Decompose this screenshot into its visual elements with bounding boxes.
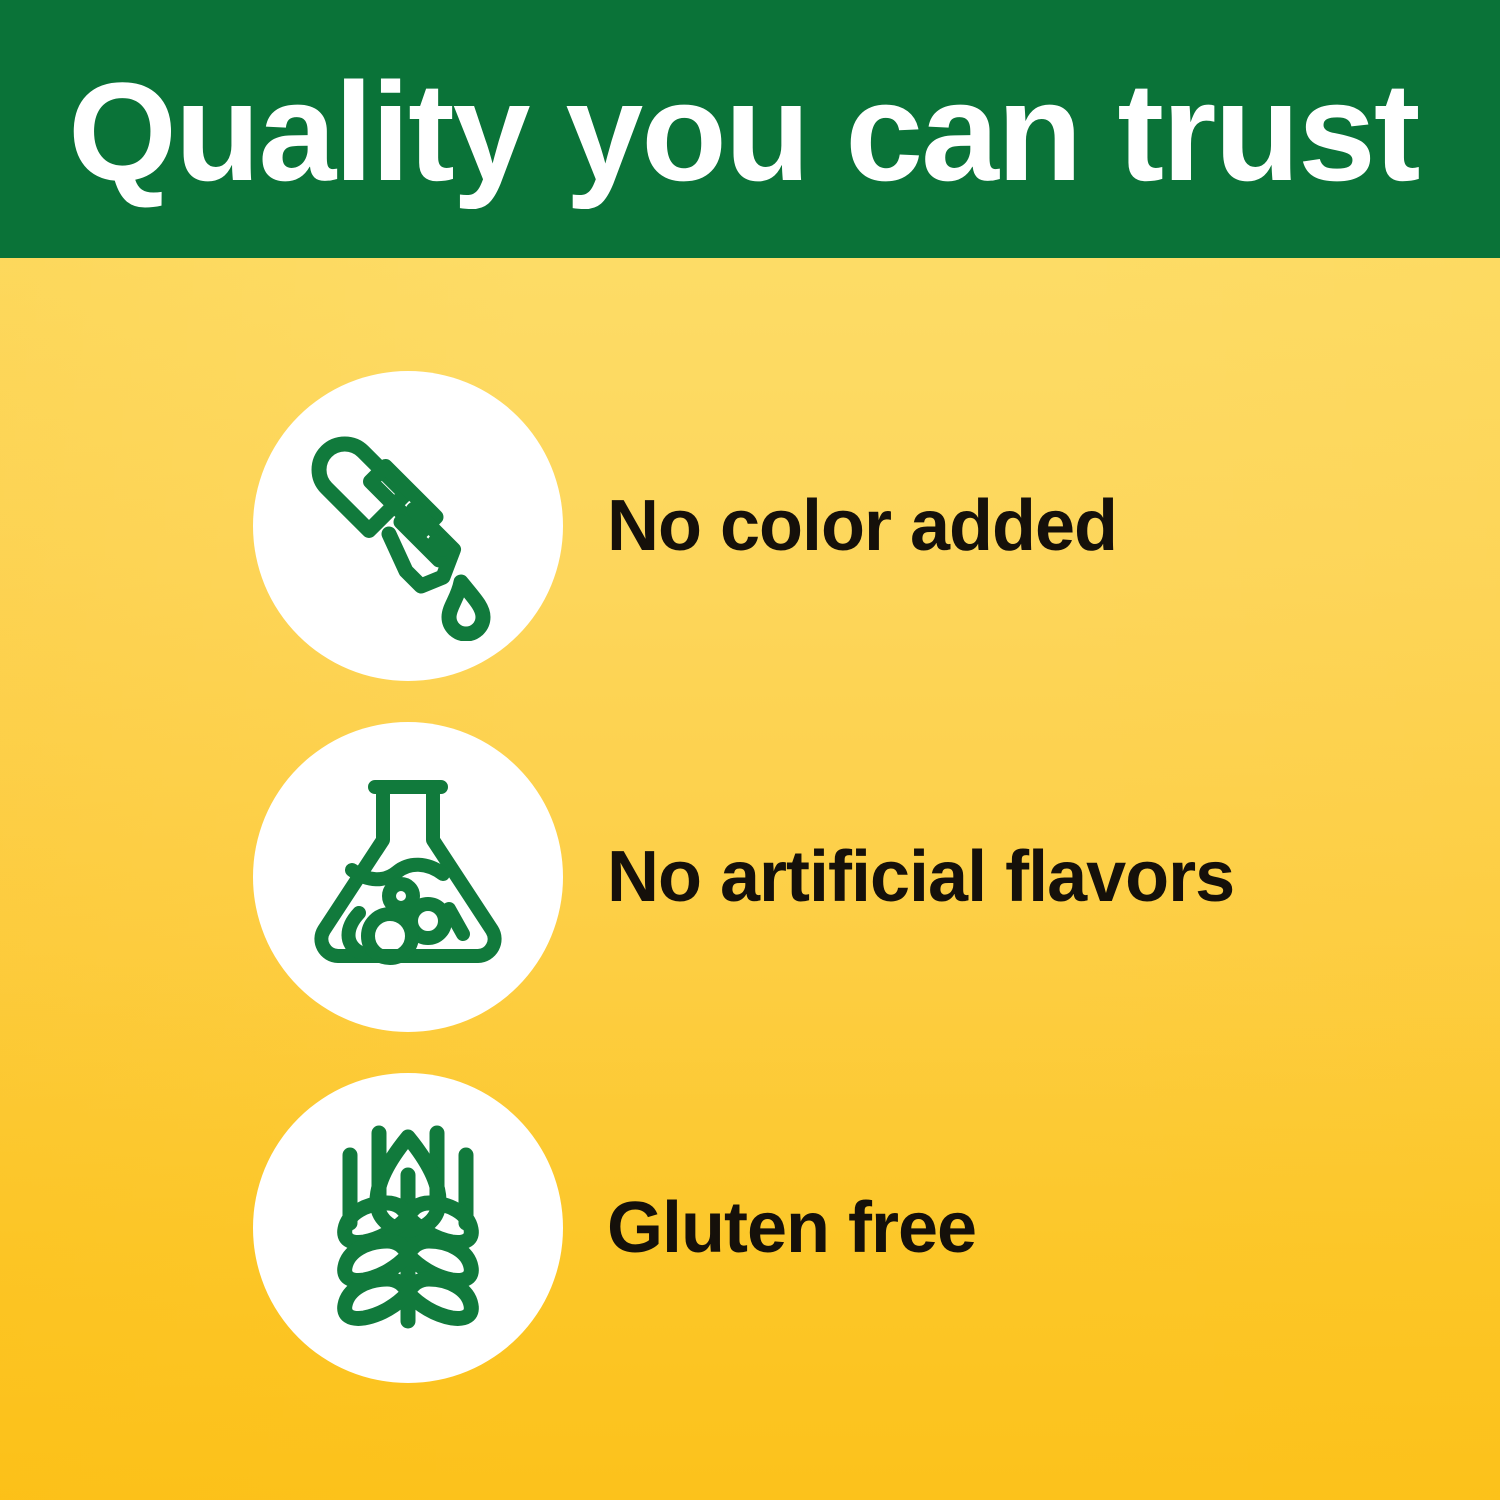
feature-row-no-artificial-flavors: No artificial flavors — [0, 722, 1500, 1032]
icon-badge-no-color-added — [253, 371, 563, 681]
quality-you-can-trust-poster: Quality you can trust — [0, 0, 1500, 1500]
header-band: Quality you can trust — [0, 0, 1500, 258]
icon-badge-no-artificial-flavors — [253, 722, 563, 1032]
page-title: Quality you can trust — [68, 62, 1418, 202]
dropper-icon — [293, 411, 523, 641]
feature-row-gluten-free: Gluten free — [0, 1073, 1500, 1383]
feature-label-no-color-added: No color added — [607, 371, 1117, 681]
feature-row-no-color-added: No color added — [0, 371, 1500, 681]
icon-badge-gluten-free — [253, 1073, 563, 1383]
flask-icon — [293, 762, 523, 992]
feature-label-no-artificial-flavors: No artificial flavors — [607, 722, 1234, 1032]
wheat-icon — [293, 1113, 523, 1343]
feature-label-gluten-free: Gluten free — [607, 1073, 976, 1383]
